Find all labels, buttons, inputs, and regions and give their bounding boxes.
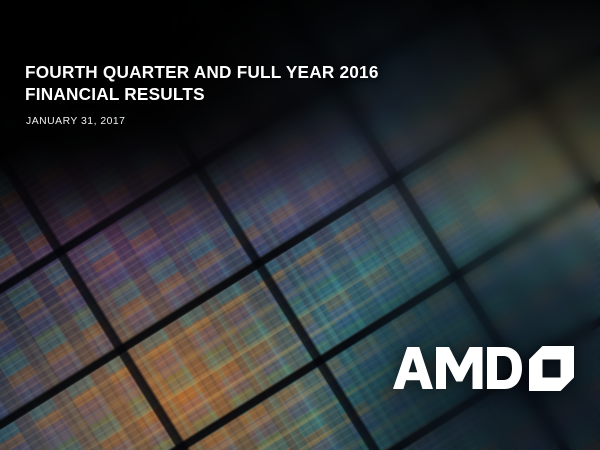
presentation-slide: FOURTH QUARTER AND FULL YEAR 2016 FINANC… [0,0,600,450]
slide-date: JANUARY 31, 2017 [26,116,125,127]
slide-title-line-2: FINANCIAL RESULTS [25,84,379,106]
amd-wordmark [388,345,522,391]
amd-logo [388,345,574,391]
slide-title-line-1: FOURTH QUARTER AND FULL YEAR 2016 [25,62,379,84]
amd-arrow-icon [529,346,574,391]
slide-title: FOURTH QUARTER AND FULL YEAR 2016 FINANC… [25,62,379,105]
